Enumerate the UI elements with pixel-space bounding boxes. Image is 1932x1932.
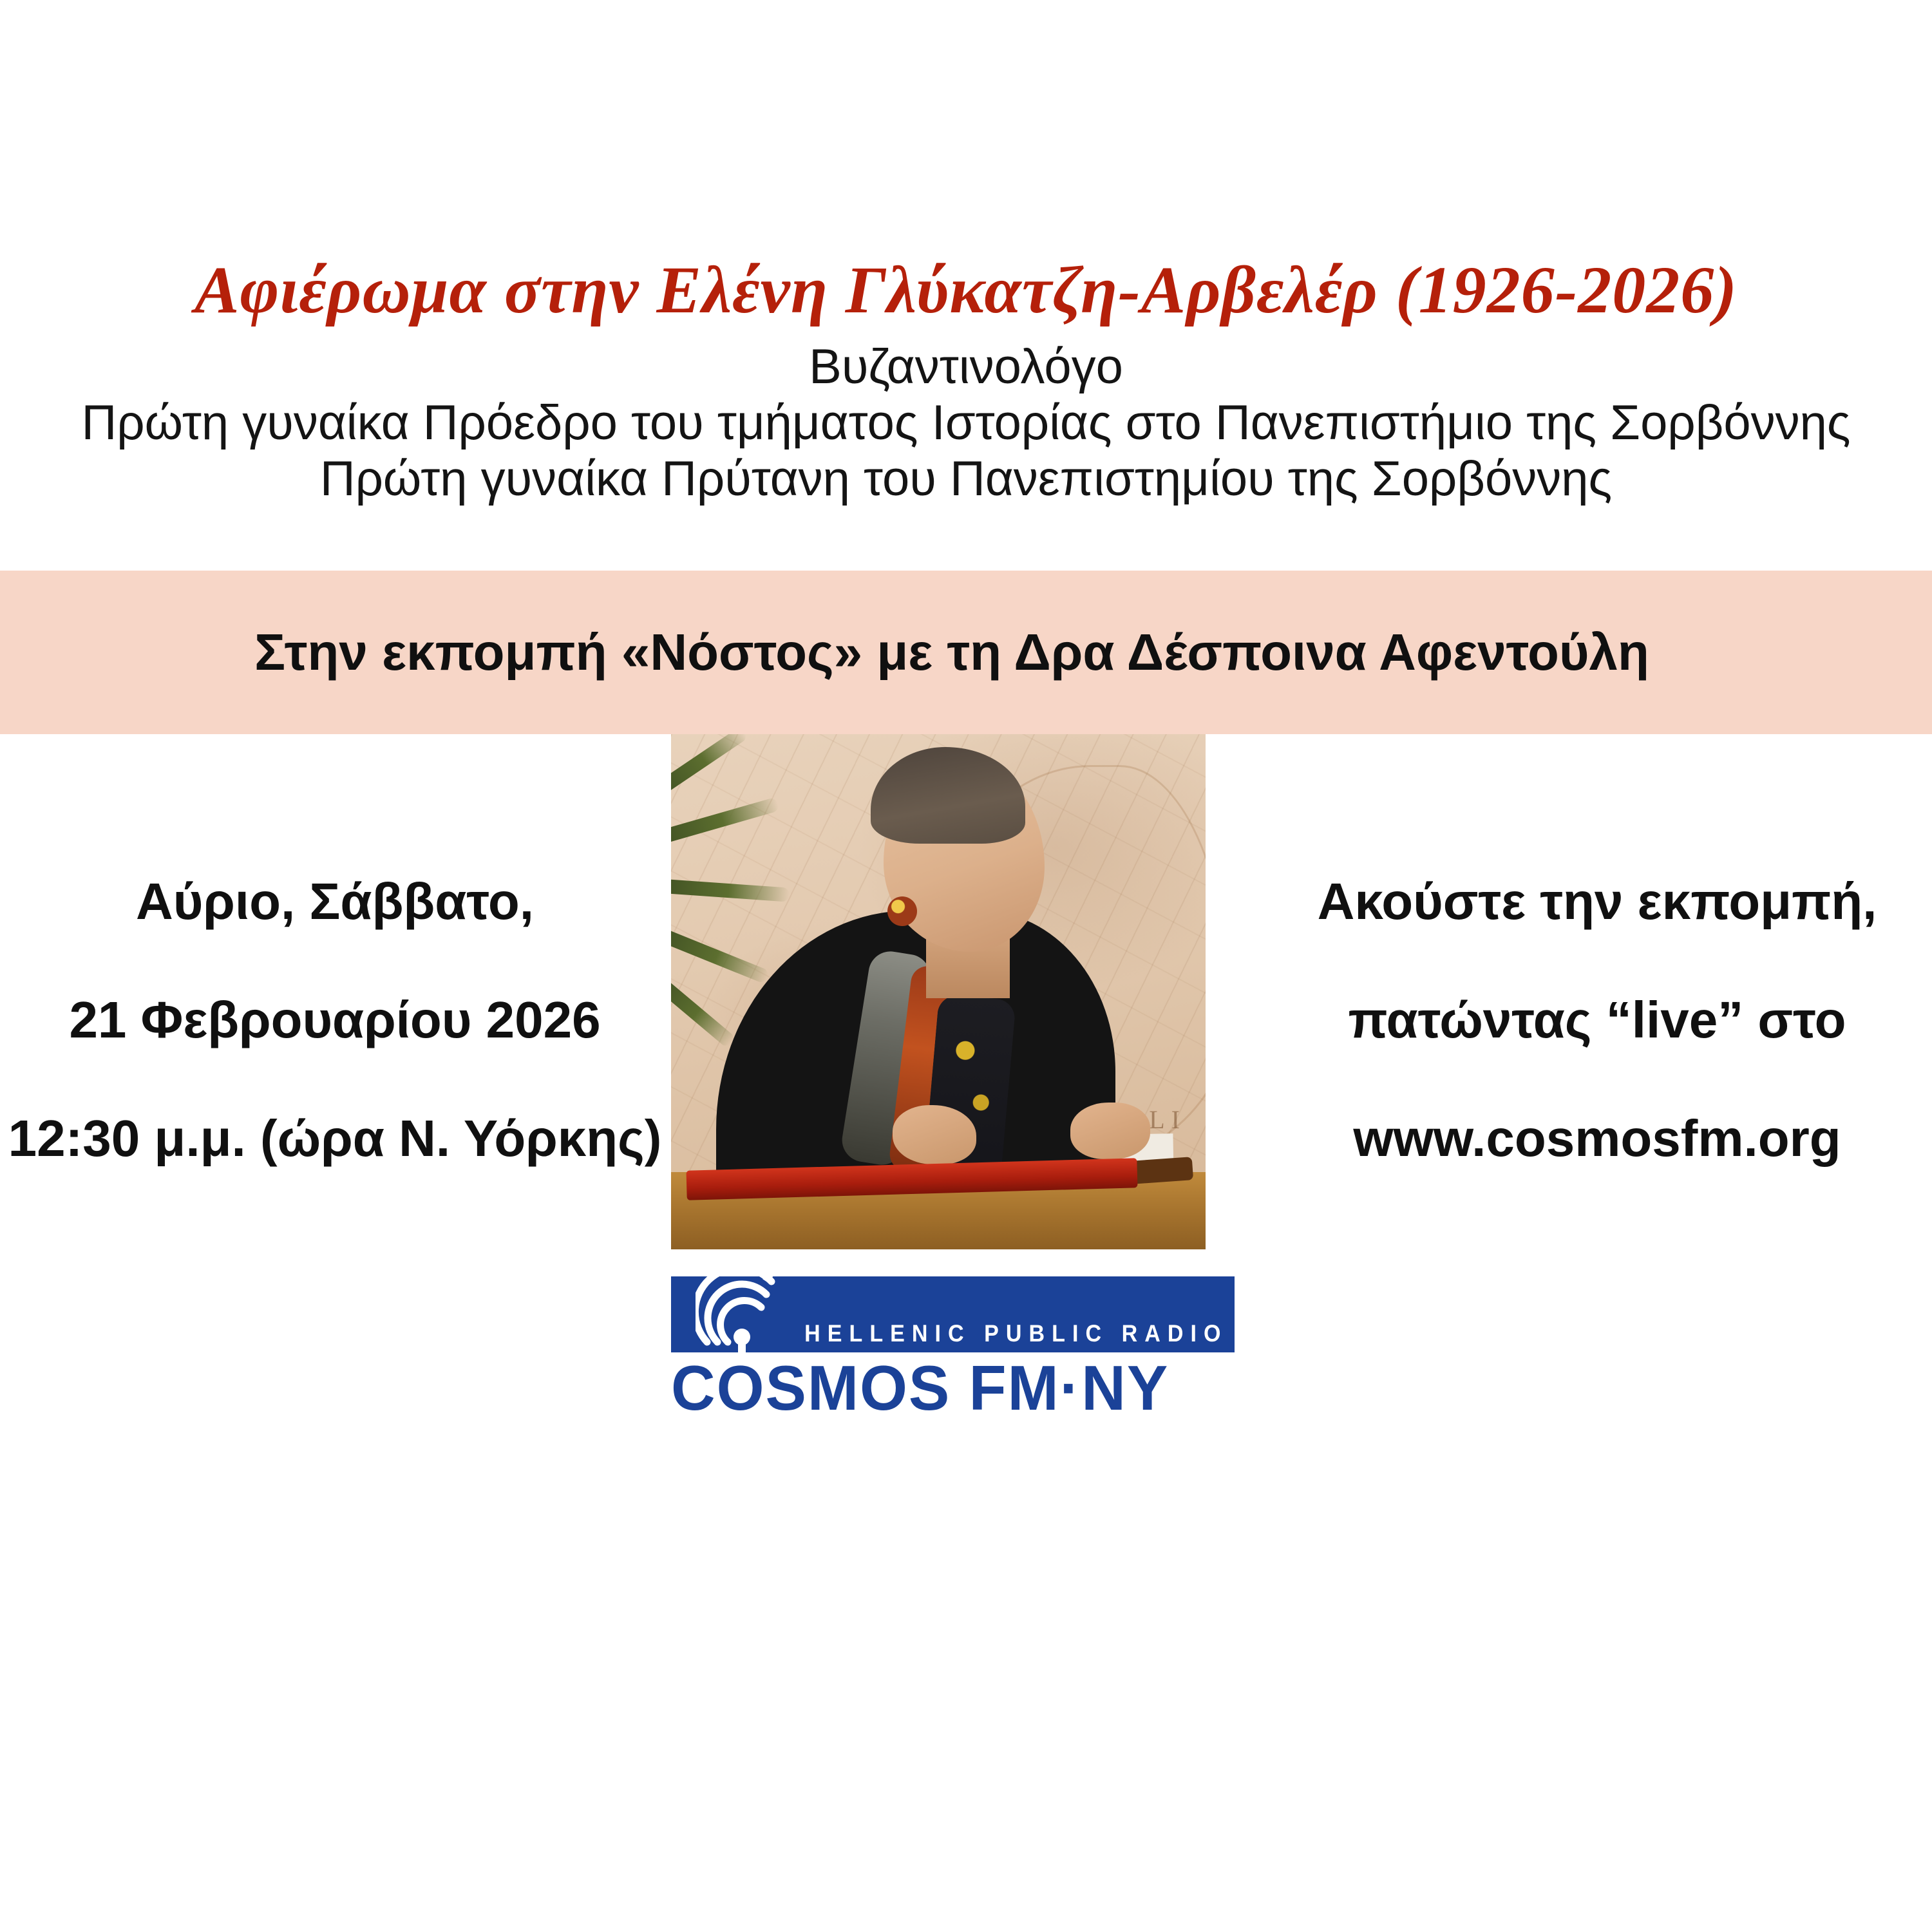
listen-line-1: Ακούστε την εκπομπή, [1262, 876, 1932, 927]
subtitle-line-1: Βυζαντινολόγο [0, 339, 1932, 394]
date-line-date: 21 Φεβρουαρίου 2026 [0, 994, 670, 1046]
subtitle-line-3: Πρώτη γυναίκα Πρύτανη του Πανεπιστημίου … [0, 451, 1932, 506]
date-line-day: Αύριο, Σάββατο, [0, 876, 670, 927]
figure-left-hand [893, 1105, 976, 1164]
show-banner: Στην εκπομπή «Νόστος» με τη Δρα Δέσποινα… [0, 571, 1932, 734]
listen-instructions-column: Ακούστε την εκπομπή, πατώντας “live” στο… [1262, 734, 1932, 1164]
poster-root: Αφιέρωμα στην Ελένη Γλύκατζη-Αρβελέρ (19… [0, 0, 1932, 1932]
page-title: Αφιέρωμα στην Ελένη Γλύκατζη-Αρβελέρ (19… [0, 255, 1932, 325]
header-block: Αφιέρωμα στην Ελένη Γλύκατζη-Αρβελέρ (19… [0, 255, 1932, 507]
listen-line-2: πατώντας “live” στο [1262, 994, 1932, 1046]
figure-earring [887, 896, 917, 926]
subtitle-line-2: Πρώτη γυναίκα Πρόεδρο του τμήματος Ιστορ… [0, 395, 1932, 450]
portrait-photo: CILI [671, 734, 1206, 1249]
logo-blue-bar: HELLENIC PUBLIC RADIO [671, 1276, 1235, 1352]
logo-wordmark: COSMOS FM·NY [671, 1356, 1218, 1419]
broadcast-datetime-column: Αύριο, Σάββατο, 21 Φεβρουαρίου 2026 12:3… [0, 734, 670, 1164]
broadcast-wave-icon [696, 1266, 792, 1361]
date-line-time: 12:30 μ.μ. (ώρα Ν. Υόρκης) [0, 1113, 670, 1164]
logo-tagline: HELLENIC PUBLIC RADIO [804, 1320, 1235, 1352]
website-url[interactable]: www.cosmosfm.org [1262, 1113, 1932, 1164]
cosmos-fm-logo: HELLENIC PUBLIC RADIO COSMOS FM·NY [671, 1276, 1235, 1419]
figure-right-hand [1070, 1103, 1150, 1159]
show-banner-text: Στην εκπομπή «Νόστος» με τη Δρα Δέσποινα… [0, 624, 1918, 681]
